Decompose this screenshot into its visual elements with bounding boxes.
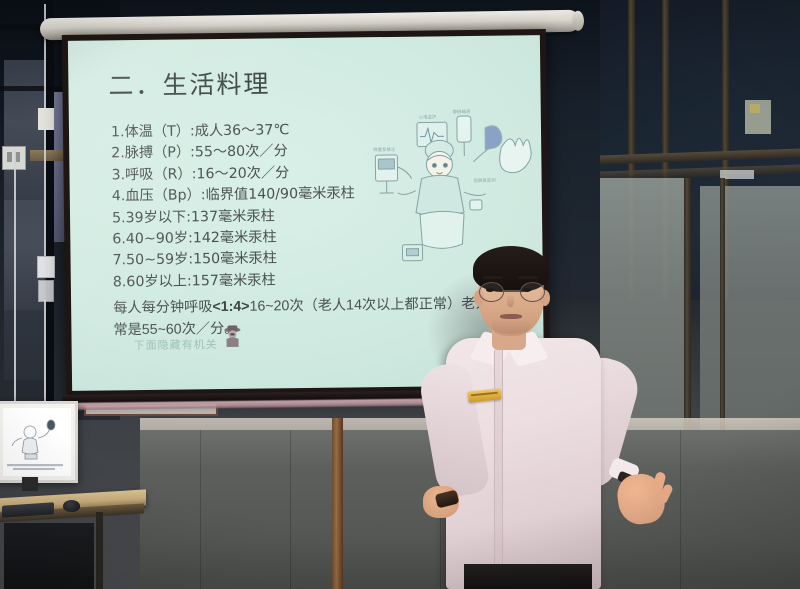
mouse[interactable] [63, 500, 80, 512]
chin [492, 320, 530, 334]
eyebrow-right [518, 276, 538, 279]
wooden-post [332, 418, 343, 589]
mouth [500, 314, 522, 319]
shirt-placket [494, 350, 503, 580]
slide-hint-text: 下面隐藏有机关 [134, 336, 218, 353]
cord-tag-upper [37, 256, 55, 278]
hanging-cord-center [44, 4, 46, 256]
slide-title: 二．生活料理 [108, 64, 270, 102]
cord-tag-lower [38, 280, 54, 302]
medical-monitor-diagram: 心电监护 静脉输液 微量泵推注 指脉氧监测 [369, 103, 539, 265]
svg-text:指脉氧监测: 指脉氧监测 [474, 177, 497, 184]
screen-bracket [38, 108, 54, 130]
computer-tower [4, 523, 94, 589]
photo-scene: 二．生活料理 1.体温（T）:成人36～37℃ 2.脉搏（P）:55～80次／分… [0, 0, 800, 589]
svg-text:微量泵推注: 微量泵推注 [373, 146, 396, 153]
paragraph-prefix: 每人每分钟呼吸 [113, 299, 213, 316]
detective-icon [221, 325, 243, 349]
hanging-cord-left [14, 150, 16, 440]
eye-right [523, 288, 531, 292]
svg-text:静脉输液: 静脉输液 [453, 108, 471, 115]
presenter [418, 246, 668, 589]
desk-leg [96, 512, 103, 589]
presenter-trousers [464, 564, 592, 589]
eye-left [486, 288, 494, 292]
eyebrow-left [483, 276, 503, 279]
paragraph-ratio: <1:4> [212, 299, 249, 315]
svg-text:心电监护: 心电监护 [419, 113, 437, 120]
desk-monitor [0, 401, 78, 483]
nose [507, 294, 514, 307]
monitor-screen-content [3, 408, 71, 476]
monitor-stand [22, 477, 38, 491]
